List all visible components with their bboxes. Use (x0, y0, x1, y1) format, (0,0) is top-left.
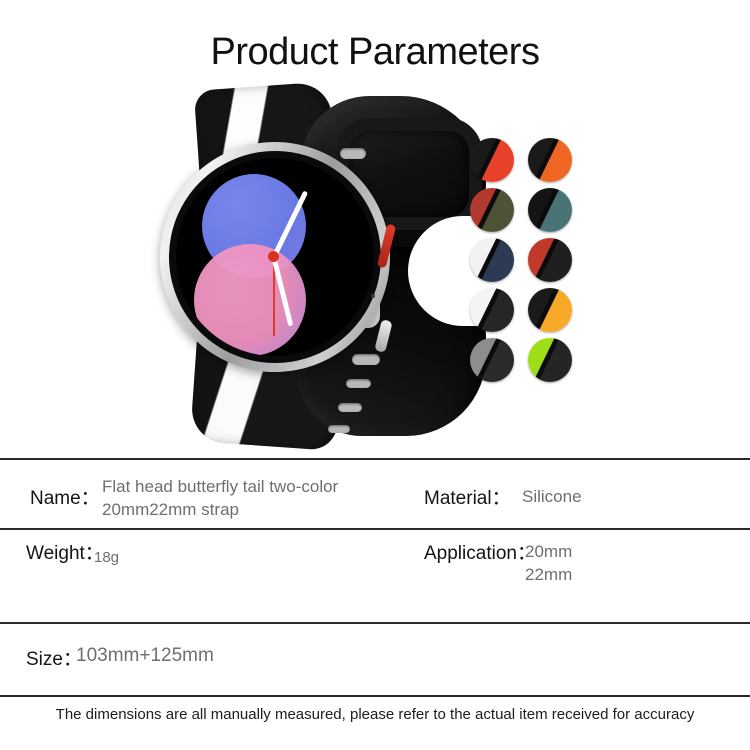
measurement-disclaimer: The dimensions are all manually measured… (0, 706, 750, 723)
smartwatch-illustration (150, 86, 480, 446)
table-divider (0, 622, 750, 624)
spec-value-application: 20mm 22mm (525, 540, 572, 586)
color-swatch-grid (470, 138, 580, 386)
spec-label-material: Material： (424, 483, 511, 510)
microphone-hole (371, 294, 375, 298)
watch-face (176, 158, 374, 356)
strap-hole (352, 354, 380, 365)
spec-value-size: 103mm+125mm (76, 644, 214, 667)
spec-label-size: Size： (26, 644, 82, 671)
color-swatch-white-black[interactable] (470, 288, 514, 332)
color-swatch-black-yellow[interactable] (528, 288, 572, 332)
product-image (0, 86, 750, 446)
spec-label-application: Application： (424, 538, 536, 565)
table-divider (0, 458, 750, 460)
hands-center-pin (268, 251, 279, 262)
spec-value-weight: 18g (94, 546, 119, 569)
page-title: Product Parameters (0, 28, 750, 76)
color-swatch-black-red[interactable] (470, 138, 514, 182)
strap-hole (338, 403, 362, 412)
strap-hole (340, 148, 366, 159)
color-swatch-lime-black[interactable] (528, 338, 572, 382)
color-swatch-white-navy[interactable] (470, 238, 514, 282)
spec-label-weight: Weight： (26, 538, 104, 565)
strap-hole (346, 379, 371, 388)
color-swatch-black-orange[interactable] (528, 138, 572, 182)
strap-hole (328, 425, 350, 433)
color-swatch-gray-black[interactable] (470, 338, 514, 382)
color-swatch-red-army-green[interactable] (470, 188, 514, 232)
watch-face-pink-blob (194, 244, 306, 356)
spec-value-material: Silicone (522, 485, 582, 508)
color-swatch-red-black[interactable] (528, 238, 572, 282)
watch-case (160, 142, 390, 372)
spec-label-name: Name： (30, 483, 100, 510)
color-swatch-black-teal[interactable] (528, 188, 572, 232)
spec-value-name: Flat head butterfly tail two-color 20mm2… (102, 475, 402, 521)
table-divider (0, 528, 750, 530)
table-divider (0, 695, 750, 697)
